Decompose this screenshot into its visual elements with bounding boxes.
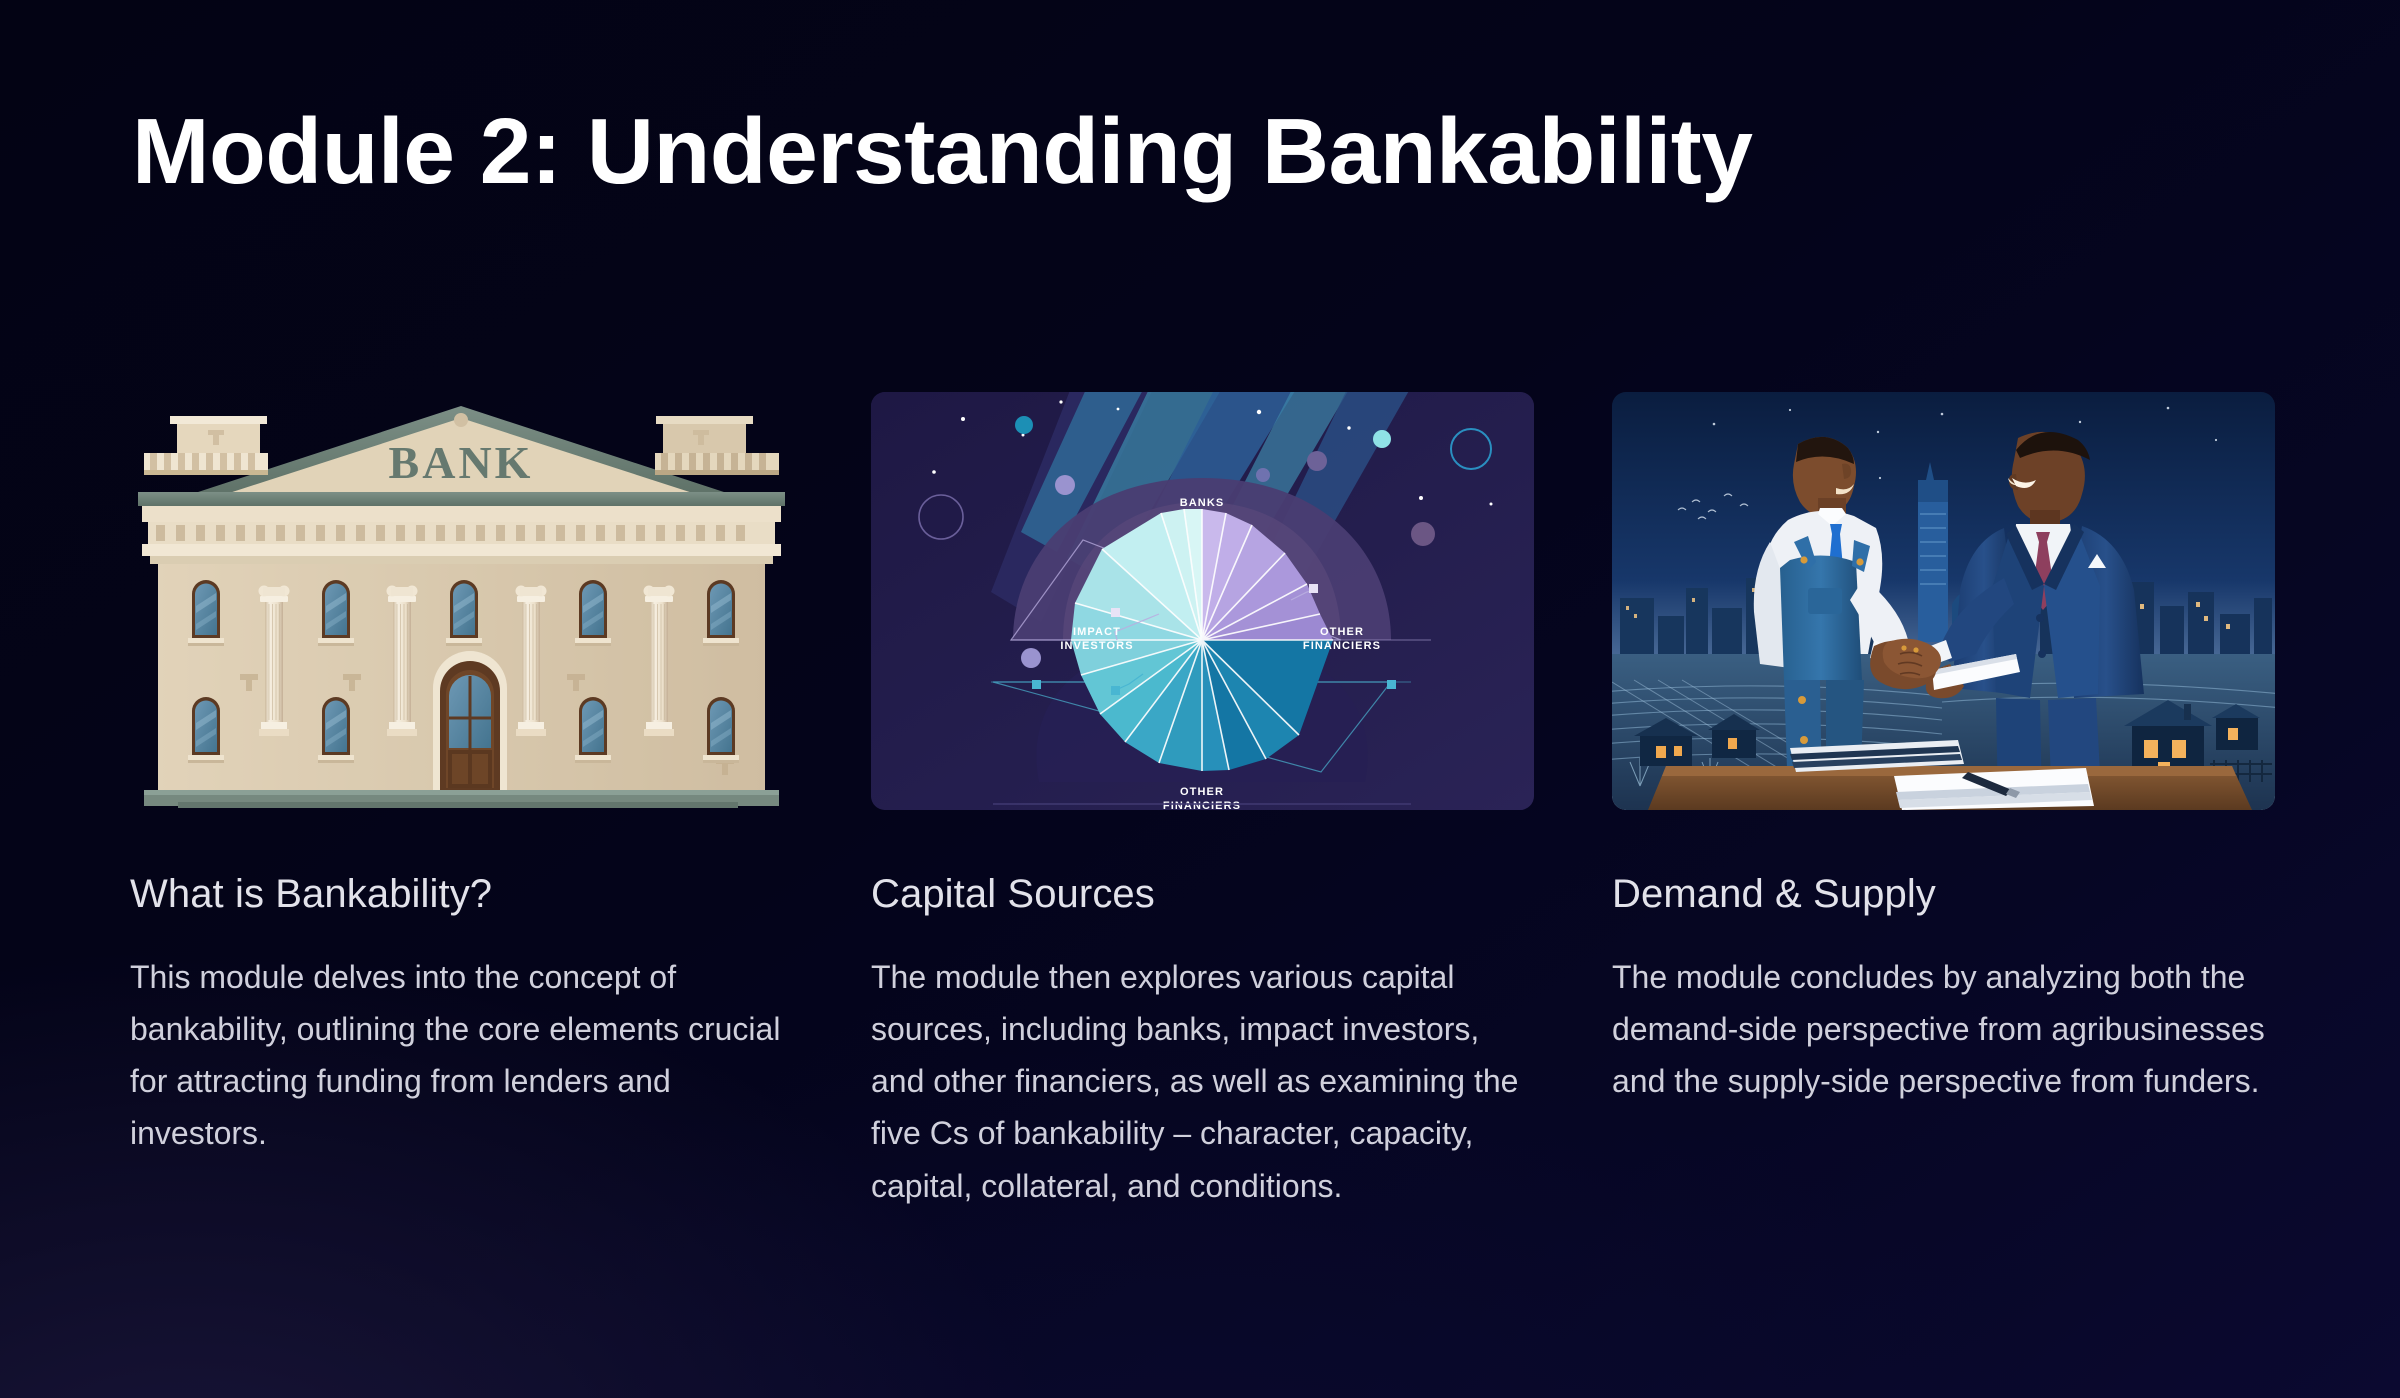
card-capital-sources[interactable]: BANKS IMPACT INVESTORS OTHER FINANCIERS … <box>871 392 1534 1212</box>
card-title: Demand & Supply <box>1612 872 2275 917</box>
slide-root: Module 2: Understanding Bankability <box>0 0 2400 1398</box>
svg-text:INVESTORS: INVESTORS <box>1060 640 1133 652</box>
pie-label-banks: BANKS <box>1180 497 1225 509</box>
farmer-and-banker-handshake-illustration <box>1612 392 2275 810</box>
pie-label-other-financiers-right: OTHER <box>1320 626 1364 638</box>
card-title: Capital Sources <box>871 872 1534 917</box>
bank-sign-text: BANK <box>389 437 534 488</box>
pie-chart-svg: BANKS IMPACT INVESTORS OTHER FINANCIERS … <box>871 392 1534 810</box>
handshake-svg <box>1612 392 2275 810</box>
card-body: This module delves into the concept of b… <box>130 951 793 1160</box>
card-title: What is Bankability? <box>130 872 793 917</box>
card-grid: BANK <box>130 392 2275 1212</box>
card-demand-and-supply[interactable]: Demand & Supply The module concludes by … <box>1612 392 2275 1212</box>
capital-sources-pie-chart-illustration: BANKS IMPACT INVESTORS OTHER FINANCIERS … <box>871 392 1534 810</box>
page-title: Module 2: Understanding Bankability <box>132 100 1753 202</box>
svg-text:FINANCIERS: FINANCIERS <box>1303 640 1381 652</box>
pie-label-other-financiers-bottom: OTHER <box>1180 786 1224 798</box>
pie-label-impact-investors: IMPACT <box>1073 626 1121 638</box>
card-what-is-bankability[interactable]: BANK <box>130 392 793 1212</box>
bank-building-illustration: BANK <box>130 392 793 810</box>
card-body: The module concludes by analyzing both t… <box>1612 951 2275 1107</box>
bank-building-svg: BANK <box>130 392 793 810</box>
card-body: The module then explores various capital… <box>871 951 1534 1212</box>
